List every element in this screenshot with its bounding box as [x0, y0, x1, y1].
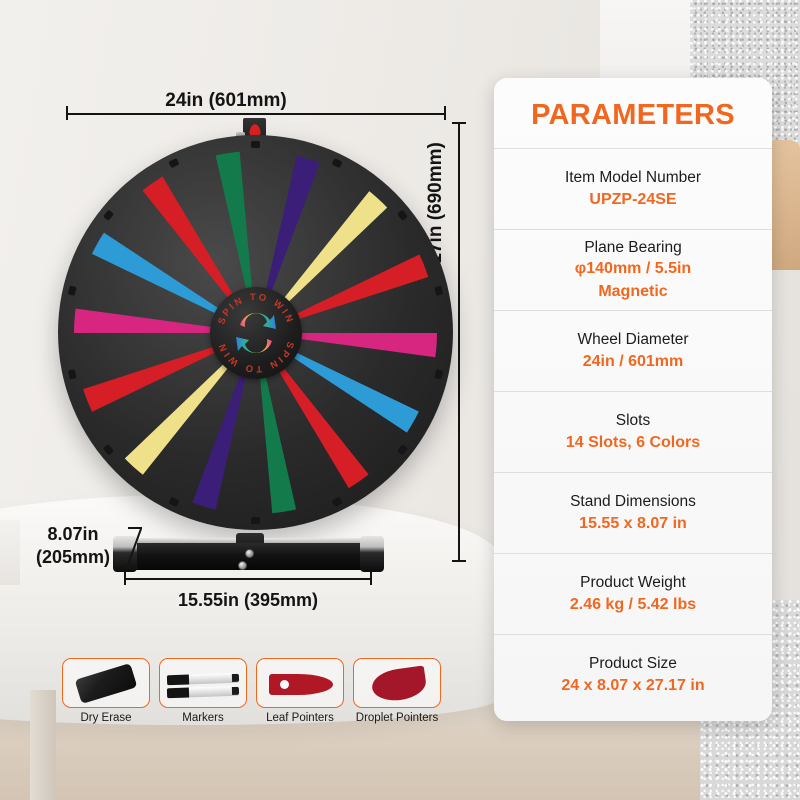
accessory-image-box — [256, 658, 344, 708]
dimension-stand-width-tick-left — [124, 571, 126, 585]
hub-text-top: SPIN TO WIN — [216, 291, 296, 325]
accessory-label: Dry Erase — [62, 712, 150, 724]
spec-value: φ140mm / 5.5in — [575, 259, 691, 279]
accessory-markers: Markers — [159, 658, 247, 724]
accessory-label: Droplet Pointers — [353, 712, 441, 724]
hub-arrow-upper-icon — [240, 312, 276, 328]
accessory-label: Markers — [159, 712, 247, 724]
dimension-stand-width-tick-right — [370, 571, 372, 585]
parameters-panel: PARAMETERS Item Model NumberUPZP-24SEPla… — [494, 78, 772, 721]
dimension-stand-width-label: 15.55in (395mm) — [120, 590, 376, 611]
hub-graphic: SPIN TO WIN SPIN TO WIN — [210, 287, 302, 379]
accessory-droplet-pointers: Droplet Pointers — [353, 658, 441, 724]
product-spec-image: 24in (601mm) 27.17in (690mm) — [0, 0, 800, 800]
spec-row: Plane Bearingφ140mm / 5.5inMagnetic — [494, 229, 772, 310]
stand-screw-lower — [238, 561, 247, 570]
accessory-label: Leaf Pointers — [256, 712, 344, 724]
prize-wheel: SPIN TO WIN SPIN TO WIN — [58, 135, 453, 530]
accessory-image-box — [353, 658, 441, 708]
hub-arrow-lower-icon — [236, 337, 272, 353]
wheel-rim-clip — [251, 141, 260, 148]
leaf-pointer-hole — [280, 680, 289, 689]
dimension-depth-tick-bottom — [124, 567, 138, 569]
dimension-depth-line2: (205mm) — [18, 546, 128, 569]
dimension-depth-tick-top — [128, 527, 142, 529]
spec-row: Wheel Diameter24in / 601mm — [494, 310, 772, 391]
spec-row: Product Size24 x 8.07 x 27.17 in — [494, 634, 772, 715]
spec-value: UPZP-24SE — [589, 190, 676, 210]
spec-value: 24 x 8.07 x 27.17 in — [561, 676, 704, 696]
wheel-rim-clip — [251, 517, 260, 524]
dimension-height-tick-bottom — [452, 560, 466, 562]
background-table-leg — [30, 690, 56, 800]
markers-icon — [167, 686, 239, 699]
dimension-depth-line1: 8.07in — [18, 523, 128, 546]
spec-label: Plane Bearing — [584, 238, 681, 258]
accessory-leaf-pointers: Leaf Pointers — [256, 658, 344, 724]
spec-label: Item Model Number — [565, 168, 701, 188]
dimension-depth-label: 8.07in (205mm) — [18, 523, 128, 568]
spec-value: 15.55 x 8.07 in — [579, 514, 687, 534]
eraser-icon — [75, 663, 138, 704]
spec-list: Item Model NumberUPZP-24SEPlane Bearingφ… — [494, 148, 772, 715]
dimension-stand-width-line — [124, 578, 372, 580]
spec-label: Wheel Diameter — [577, 330, 688, 350]
spec-row: Stand Dimensions15.55 x 8.07 in — [494, 472, 772, 553]
background-shelf — [0, 520, 20, 585]
stand-screw-upper — [245, 549, 254, 558]
spec-label: Product Weight — [580, 573, 686, 593]
spec-row: Product Weight2.46 kg / 5.42 lbs — [494, 553, 772, 634]
droplet-pointer-icon — [370, 665, 428, 703]
dimension-width-tick-left — [66, 106, 68, 120]
stand-cap-right — [360, 536, 384, 572]
spec-value: 14 Slots, 6 Colors — [566, 433, 700, 453]
accessory-dry-erase: Dry Erase — [62, 658, 150, 724]
spec-value: 2.46 kg / 5.42 lbs — [570, 595, 696, 615]
markers-icon — [167, 673, 239, 686]
spec-label: Product Size — [589, 654, 677, 674]
dimension-height-tick-top — [452, 122, 466, 124]
accessory-image-box — [159, 658, 247, 708]
spec-value: 24in / 601mm — [583, 352, 684, 372]
spec-value-secondary: Magnetic — [598, 282, 667, 302]
spec-row: Slots14 Slots, 6 Colors — [494, 391, 772, 472]
accessory-row: Dry Erase Markers Leaf Pointers Droplet … — [62, 658, 441, 724]
spec-label: Stand Dimensions — [570, 492, 696, 512]
dimension-width-line — [66, 113, 446, 115]
dimension-height-line — [458, 122, 460, 562]
leaf-pointer-icon — [269, 674, 333, 695]
accessory-image-box — [62, 658, 150, 708]
dimension-width-tick-right — [444, 106, 446, 120]
panel-title: PARAMETERS — [494, 82, 772, 148]
wheel-hub: SPIN TO WIN SPIN TO WIN — [210, 287, 302, 379]
spec-label: Slots — [616, 411, 650, 431]
hub-text-bottom: SPIN TO WIN — [216, 339, 296, 373]
spec-row: Item Model NumberUPZP-24SE — [494, 148, 772, 229]
